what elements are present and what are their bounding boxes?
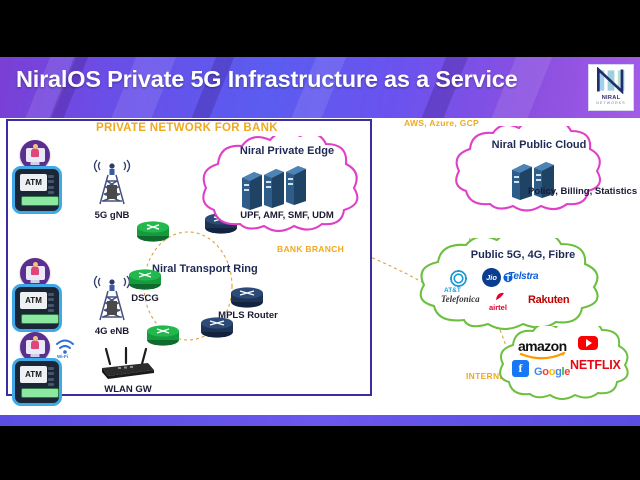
atm-screen-label: ATM <box>20 366 47 383</box>
google-logo-icon: Google <box>534 366 570 378</box>
telstra-mark-icon <box>503 272 513 283</box>
public-cloud-title: Niral Public Cloud <box>484 140 594 151</box>
access-label-wlan: WLAN GW <box>100 384 156 395</box>
page-title: NiralOS Private 5G Infrastructure as a S… <box>16 66 518 93</box>
airtel-mark-icon <box>494 291 506 303</box>
private-network-title: PRIVATE NETWORK FOR BANK <box>96 122 278 134</box>
niral-logo-mark <box>594 67 628 94</box>
access-label-5g: 5G gNB <box>83 210 141 221</box>
atm-cash-slot <box>21 196 59 206</box>
operator-att-label: AT&T <box>444 287 461 294</box>
operator-telefonica-label: Telefonica <box>441 294 480 304</box>
atm-cash-slot <box>21 314 59 324</box>
att-logo-icon <box>450 270 467 287</box>
operator-airtel-label: airtel <box>489 303 507 312</box>
niral-networks-logo: NIRAL NETWORKS <box>588 64 634 111</box>
transport-ring-label: Niral Transport Ring <box>152 262 226 276</box>
jio-logo-icon: Jio <box>482 268 501 287</box>
brand-netflix-label: NETFLIX <box>570 358 621 372</box>
router-navy-ring[interactable] <box>200 316 234 338</box>
router-green-top[interactable] <box>136 220 170 242</box>
facebook-logo-icon: f <box>512 360 529 377</box>
private-edge-functions: UPF, AMF, SMF, UDM <box>222 210 352 221</box>
atm-terminal[interactable]: ATM <box>12 284 62 332</box>
operator-jio-label: Jio <box>486 273 497 282</box>
screenshot-root: NiralOS Private 5G Infrastructure as a S… <box>0 0 640 480</box>
router-navy-mpls[interactable] <box>230 286 264 308</box>
atm-screen-label: ATM <box>20 292 47 309</box>
logo-subtitle: NETWORKS <box>596 101 626 106</box>
public-cloud-functions: Policy, Billing, Statistics <box>528 186 608 197</box>
access-label-4g: 4G eNB <box>83 326 141 337</box>
bank-branch-label: BANK BRANCH <box>277 244 344 254</box>
atm-screen-label: ATM <box>20 174 47 191</box>
wifi-icon <box>54 336 76 356</box>
youtube-logo-icon <box>578 336 598 350</box>
title-banner: NiralOS Private 5G Infrastructure as a S… <box>0 57 640 118</box>
cell-tower-5g-icon <box>90 152 134 208</box>
router-green-bottom[interactable] <box>146 324 180 346</box>
atm-terminal[interactable]: ATM <box>12 358 62 406</box>
wifi-label: Wi-Fi <box>57 354 68 359</box>
wlan-access-point-icon <box>96 346 158 382</box>
atm-terminal[interactable]: ATM <box>12 166 62 214</box>
dscg-label: DSCG <box>118 293 172 304</box>
router-green-dscg[interactable] <box>128 268 162 290</box>
diagram-canvas: PRIVATE NETWORK FOR BANK ATM 5G gNB <box>0 118 640 415</box>
atm-cash-slot <box>21 388 59 398</box>
private-edge-servers-icon <box>236 166 308 210</box>
public-access-title: Public 5G, 4G, Fibre <box>448 250 598 261</box>
private-edge-title: Niral Private Edge <box>228 146 346 157</box>
bottom-accent-bar <box>0 415 640 426</box>
operator-rakuten-label: Rakuten <box>528 294 569 306</box>
